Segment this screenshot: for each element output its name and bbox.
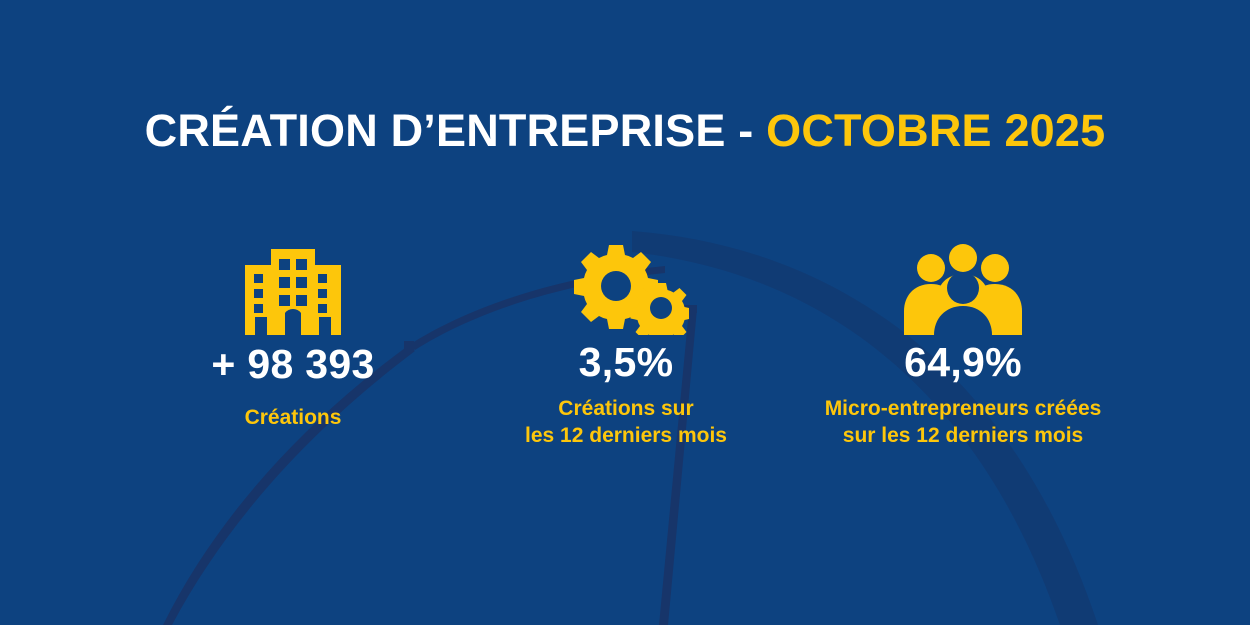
stat-block-micro-entrepreneurs: 64,9% Micro-entrepreneurs créées sur les… (797, 243, 1130, 450)
stat-value-micro-entrepreneurs: 64,9% (904, 341, 1022, 384)
statistics-row: + 98 393 Créations (0, 243, 1250, 493)
page-title-main: CRÉATION D’ENTREPRISE - (145, 105, 767, 156)
stat-value-creations: + 98 393 (211, 343, 374, 386)
stat-value-creations-12m: 3,5% (579, 341, 674, 384)
stat-block-creations: + 98 393 Créations (127, 243, 460, 432)
buildings-icon (237, 243, 349, 335)
stat-label-creations: Créations (245, 405, 342, 432)
people-group-icon (903, 243, 1023, 335)
infographic-canvas: CRÉATION D’ENTREPRISE - OCTOBRE 2025 (0, 0, 1250, 625)
page-title-accent: OCTOBRE 2025 (766, 105, 1105, 156)
stat-block-creations-12m: 3,5% Créations sur les 12 derniers mois (460, 243, 793, 450)
stat-label-creations-12m: Créations sur les 12 derniers mois (525, 396, 727, 450)
gears-icon (563, 243, 689, 335)
stat-label-micro-entrepreneurs: Micro-entrepreneurs créées sur les 12 de… (825, 396, 1102, 450)
page-title: CRÉATION D’ENTREPRISE - OCTOBRE 2025 (0, 108, 1250, 153)
